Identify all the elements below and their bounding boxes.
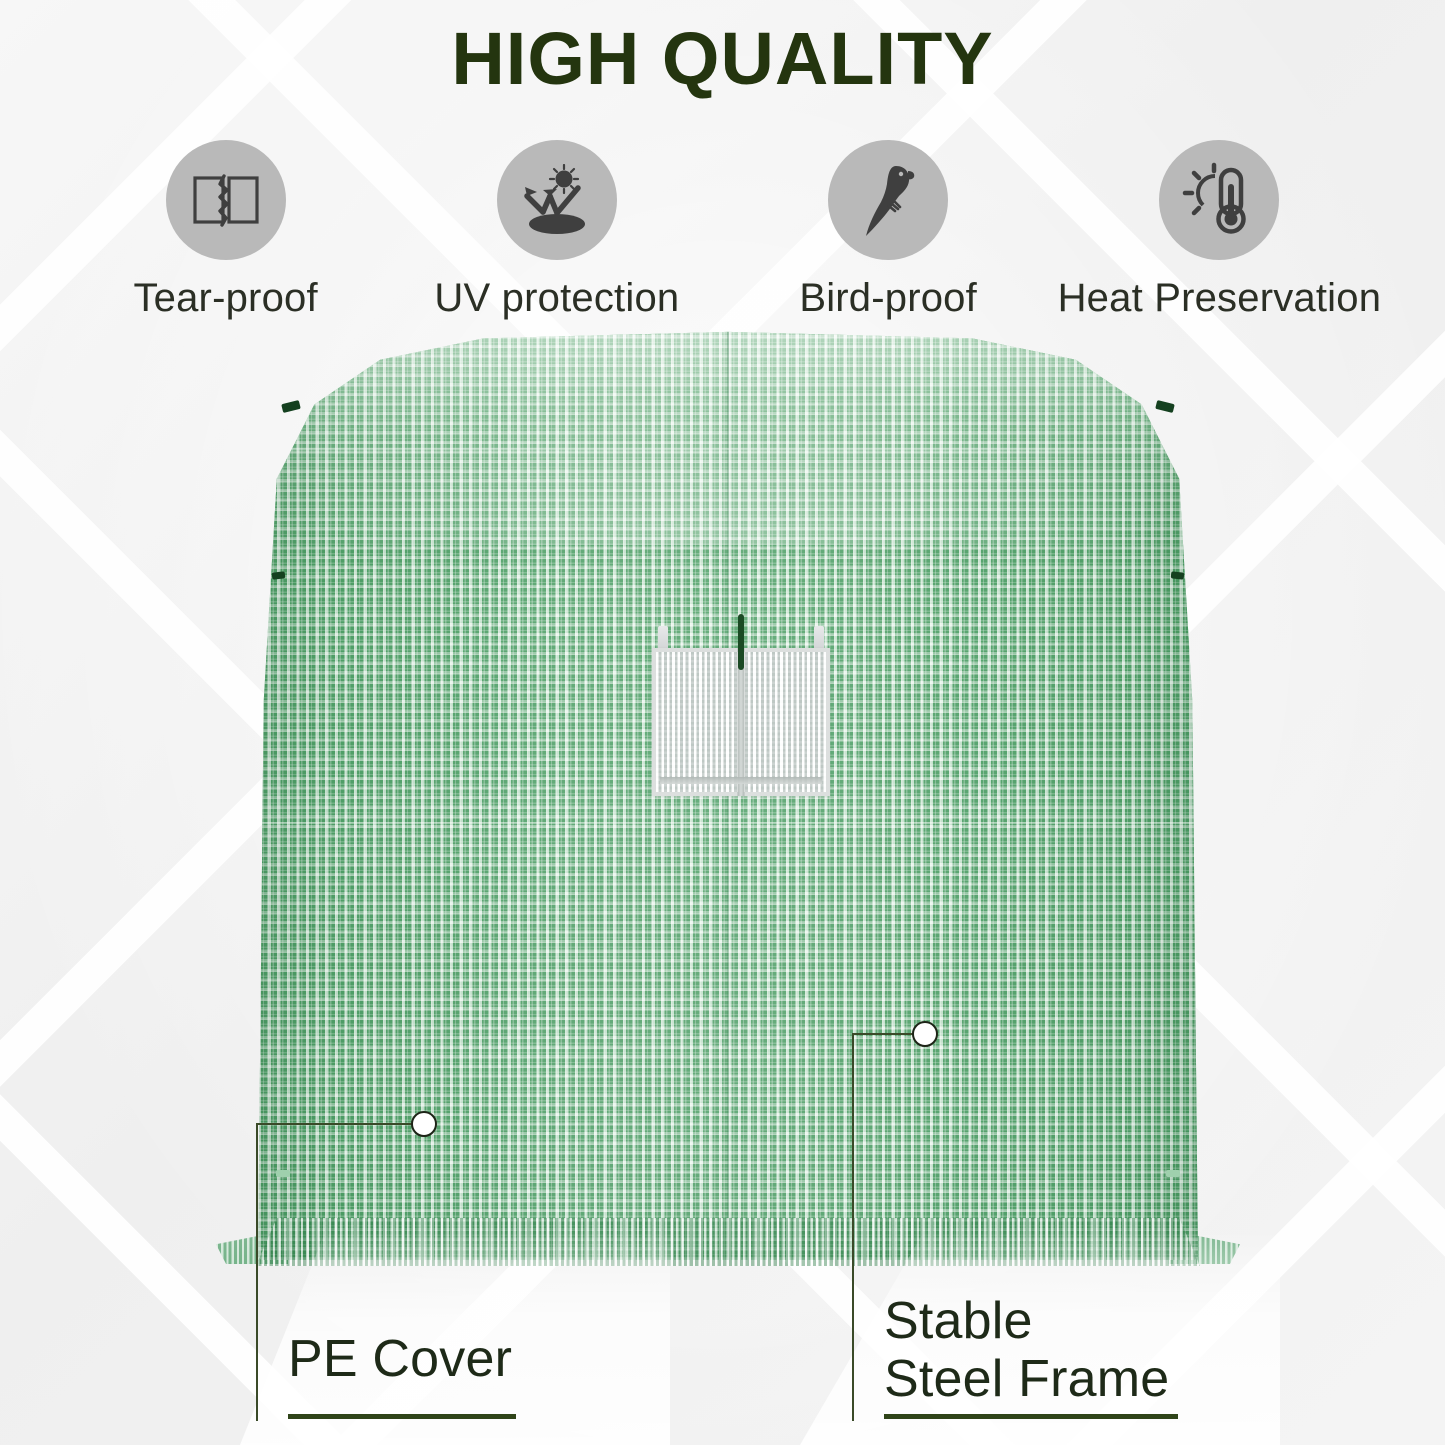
window-zipper-pull[interactable] — [738, 614, 744, 670]
feature-item-heat-preservation: Heat Preservation — [1054, 140, 1385, 321]
feature-item-bird-proof: Bird-proof — [723, 140, 1054, 321]
tie-strap-upper-left — [272, 571, 286, 579]
roll-up-mesh-window[interactable] — [652, 626, 830, 796]
callout-dot-pe-cover — [411, 1111, 437, 1137]
feature-list: Tear-proof — [60, 140, 1385, 321]
callout-underline-steel-frame — [884, 1414, 1178, 1419]
tie-strap-top-right — [1155, 400, 1175, 413]
feature-label-uv-protection: UV protection — [434, 276, 679, 321]
window-bottom-bar — [660, 777, 822, 784]
callout-label-pe-cover: PE Cover — [288, 1330, 512, 1388]
callout-leader-horizontal-pe-cover — [256, 1123, 414, 1125]
callout-label-steel-frame: Stable Steel Frame — [884, 1292, 1169, 1408]
page-title: HIGH QUALITY — [0, 16, 1445, 101]
thermometer-sun-icon — [1159, 140, 1279, 260]
feature-item-uv-protection: UV protection — [391, 140, 722, 321]
parrot-icon — [828, 140, 948, 260]
feature-label-heat-preservation: Heat Preservation — [1058, 276, 1382, 321]
tie-strap-top-left — [281, 400, 301, 413]
tie-strap-upper-right — [1171, 571, 1185, 579]
callout-dot-steel-frame — [912, 1021, 938, 1047]
horizontal-seam-lower — [258, 822, 1198, 824]
greenhouse-product-image — [258, 330, 1198, 1290]
infographic-canvas: HIGH QUALITY Tear-proof — [0, 0, 1445, 1445]
horizontal-seam-upper — [258, 448, 1198, 450]
feature-label-tear-proof: Tear-proof — [133, 276, 317, 321]
feature-label-bird-proof: Bird-proof — [799, 276, 977, 321]
callout-leader-horizontal-steel-frame — [852, 1033, 916, 1035]
callout-leader-vertical-pe-cover — [256, 1123, 258, 1421]
sun-reflect-icon — [497, 140, 617, 260]
tie-strap-bottom-left — [276, 1170, 290, 1177]
feature-item-tear-proof: Tear-proof — [60, 140, 391, 321]
callout-leader-vertical-steel-frame — [852, 1033, 854, 1421]
window-zipper-track — [738, 648, 745, 796]
tie-strap-bottom-right — [1166, 1170, 1180, 1177]
callout-underline-pe-cover — [288, 1414, 516, 1419]
torn-fabric-icon — [166, 140, 286, 260]
